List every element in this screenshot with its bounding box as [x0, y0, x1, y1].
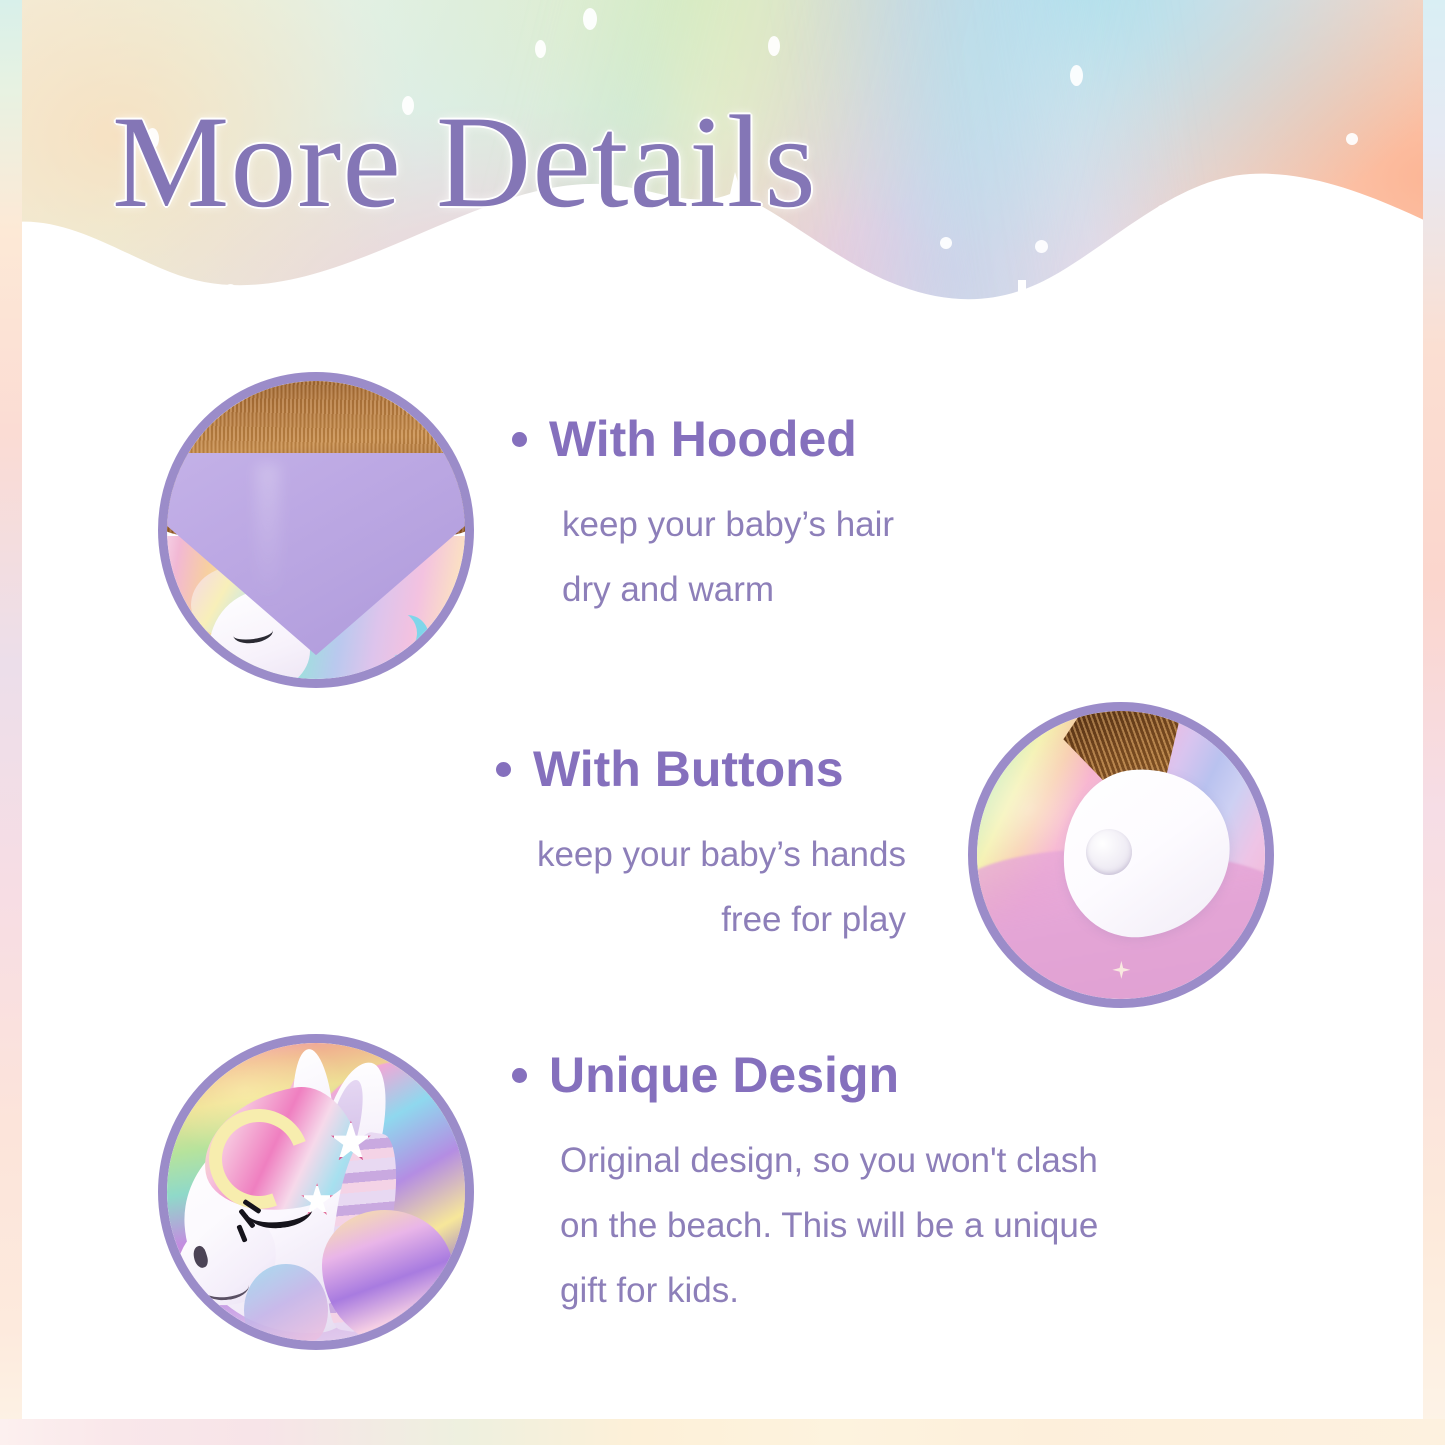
description-line: dry and warm — [562, 558, 1032, 623]
feature-heading-label: With Hooded — [549, 412, 857, 467]
hooded-towel-photo[interactable] — [158, 372, 474, 688]
sparkle-dot — [1070, 65, 1083, 86]
feature-heading-label: Unique Design — [549, 1048, 899, 1103]
feature-description-with-buttons: keep your baby’s hands free for play — [440, 823, 910, 953]
hood-fold-highlight — [256, 464, 280, 601]
feature-heading-with-buttons: With Buttons — [440, 742, 910, 797]
feature-heading-label: With Buttons — [533, 742, 844, 797]
unicorn-design-photo-inner — [167, 1043, 465, 1341]
description-line: gift for kids. — [560, 1259, 1192, 1324]
hooded-towel-photo-inner — [167, 381, 465, 679]
feature-heading-unique-design: Unique Design — [512, 1048, 1192, 1103]
sparkle-dot — [1424, 5, 1436, 17]
product-detail-infographic: More Details With Hooded keep your baby’… — [0, 0, 1445, 1445]
feature-text-with-buttons: With Buttons keep your baby’s hands free… — [440, 742, 910, 953]
description-line: Original design, so you won't clash — [560, 1129, 1192, 1194]
sparkle-dot — [768, 36, 780, 56]
description-line: free for play — [440, 888, 906, 953]
feature-heading-with-hooded: With Hooded — [512, 412, 1032, 467]
feature-description-unique-design: Original design, so you won't clash on t… — [512, 1129, 1192, 1323]
feature-text-unique-design: Unique Design Original design, so you wo… — [512, 1048, 1192, 1323]
page-title: More Details — [112, 96, 817, 228]
description-line: keep your baby’s hands — [440, 823, 906, 888]
snap-button-photo-inner — [977, 711, 1265, 999]
sparkle-dot — [535, 40, 546, 58]
snap-button-photo[interactable] — [968, 702, 1274, 1008]
sparkle-dot — [583, 8, 597, 30]
sparkle-dot — [1346, 133, 1358, 145]
bullet-dot-icon — [512, 1068, 527, 1083]
description-line: on the beach. This will be a unique — [560, 1194, 1192, 1259]
bullet-dot-icon — [496, 762, 511, 777]
unicorn-design-photo[interactable] — [158, 1034, 474, 1350]
description-line: keep your baby’s hair — [562, 493, 1032, 558]
feature-text-with-hooded: With Hooded keep your baby’s hair dry an… — [512, 412, 1032, 623]
bullet-dot-icon — [512, 432, 527, 447]
feature-description-with-hooded: keep your baby’s hair dry and warm — [512, 493, 1032, 623]
